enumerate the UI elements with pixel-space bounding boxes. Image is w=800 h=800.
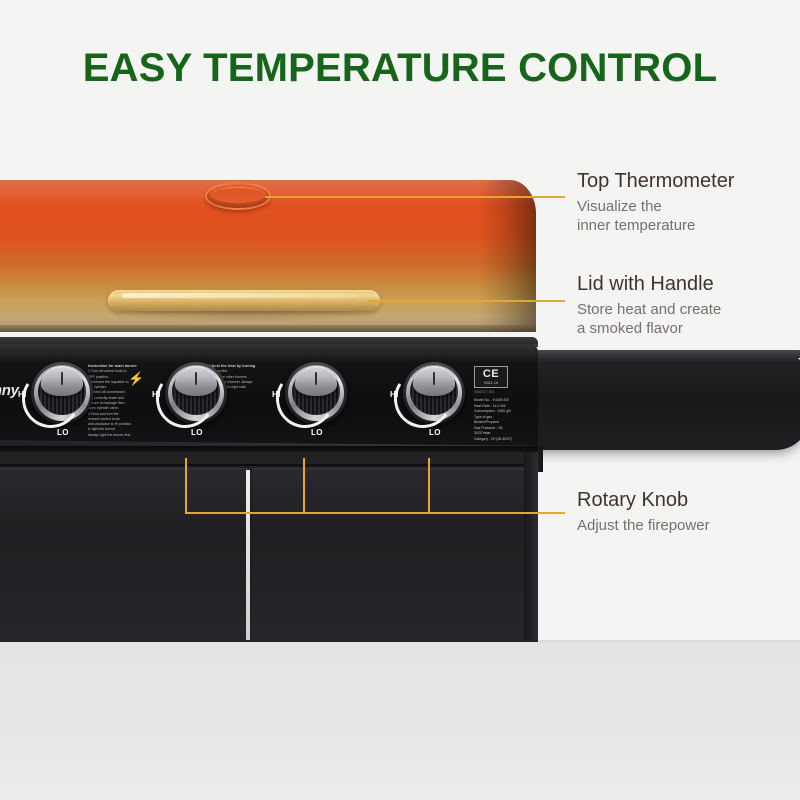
- knob-lo-label: LO: [429, 428, 441, 437]
- ce-icon: CE: [483, 369, 499, 380]
- ce-mark-box: CE 0063-18: [474, 366, 508, 388]
- lid-handle[interactable]: [108, 290, 380, 311]
- callout-desc-line-1: Visualize the: [577, 197, 734, 217]
- knob-hi-label: HI: [272, 390, 281, 399]
- knob-lo-label: LO: [57, 428, 69, 437]
- lid-bottom-edge: [0, 325, 536, 332]
- page-title: EASY TEMPERATURE CONTROL: [0, 46, 800, 91]
- side-shelf: [520, 350, 800, 450]
- callout-desc-line-1: Store heat and create: [577, 300, 721, 320]
- callout-description: Visualize the inner temperature: [577, 197, 734, 237]
- callout-desc-line-2: inner temperature: [577, 216, 734, 236]
- cart-right-edge: [524, 452, 538, 640]
- control-panel-gloss: [0, 344, 538, 364]
- callout-description: Store heat and create a smoked flavor: [577, 300, 721, 340]
- knob-lo-label: LO: [311, 428, 323, 437]
- rating-plate: CE 0063-18 0063/CT-501 Model No. : H1309…: [474, 366, 516, 442]
- ce-number: 0063-18: [484, 381, 499, 385]
- callout-title: Top Thermometer: [577, 170, 734, 194]
- top-thermometer-icon: [205, 182, 271, 210]
- callout-rotary-knob: Rotary Knob Adjust the firepower: [577, 489, 710, 535]
- ce-sublabel: 0063/CT-501: [474, 390, 516, 394]
- callout-title: Lid with Handle: [577, 273, 721, 297]
- lid-shading: [478, 180, 536, 332]
- thermometer-face: [211, 187, 265, 203]
- callout-lid-with-handle: Lid with Handle Store heat and create a …: [577, 273, 721, 339]
- knob-hi-label: HI: [390, 390, 399, 399]
- side-shelf-lip: [520, 350, 800, 358]
- brand-logo: unny: [0, 382, 19, 399]
- cabinet-door-gap: [246, 470, 250, 640]
- callout-desc-line-2: a smoked flavor: [577, 319, 721, 339]
- callout-top-thermometer: Top Thermometer Visualize the inner temp…: [577, 170, 734, 236]
- spec-list: Model No. : H1309-EE Heat Rate : 14.0 kW…: [474, 398, 516, 442]
- knob-hi-label: HI: [18, 390, 27, 399]
- cabinet-door-right[interactable]: [252, 468, 524, 640]
- handle-highlight: [122, 293, 358, 298]
- cart-seam: [0, 464, 538, 466]
- floor-background: [0, 640, 800, 800]
- callout-title: Rotary Knob: [577, 489, 710, 513]
- infographic-canvas: EASY TEMPERATURE CONTROL: [0, 0, 800, 800]
- knob-lo-label: LO: [191, 428, 203, 437]
- callout-description: Adjust the firepower: [577, 516, 710, 536]
- knob-hi-label: HI: [152, 390, 161, 399]
- callout-desc-line-1: Adjust the firepower: [577, 516, 710, 536]
- ignition-spark-icon: ⚡: [128, 372, 144, 385]
- cabinet-door-left[interactable]: [0, 468, 248, 640]
